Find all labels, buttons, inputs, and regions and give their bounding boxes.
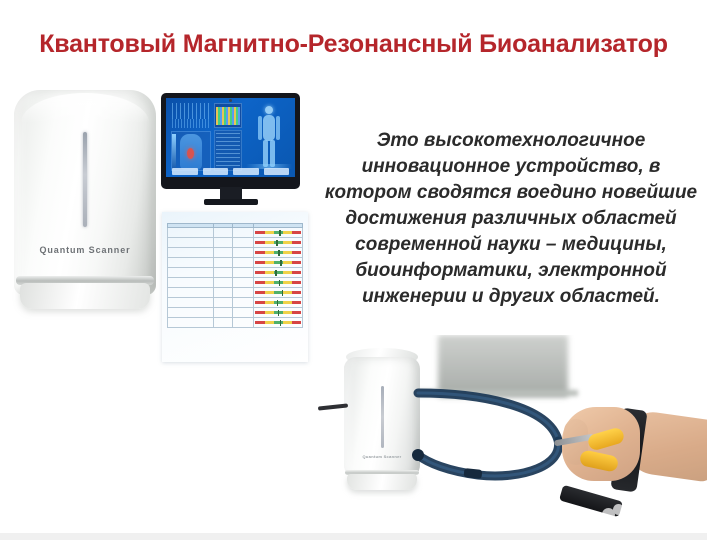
human-body-figure bbox=[254, 106, 284, 168]
gauge-marker bbox=[282, 290, 284, 296]
waveform-panel-secondary bbox=[172, 119, 210, 128]
portable-light-slit bbox=[381, 386, 384, 448]
gauge-segment bbox=[255, 271, 264, 274]
spectrum-bars bbox=[216, 107, 240, 125]
gauge-marker bbox=[279, 230, 281, 236]
gauge-segment bbox=[283, 291, 292, 294]
cell-range bbox=[213, 318, 232, 328]
scan-level-bar bbox=[172, 134, 176, 168]
gauge-segment bbox=[265, 291, 274, 294]
gauge-segment bbox=[265, 281, 274, 284]
screen-button-row bbox=[172, 168, 289, 175]
cell-range bbox=[213, 278, 232, 288]
table-row bbox=[168, 228, 303, 238]
gauge-segment bbox=[255, 281, 264, 284]
gauge-segment bbox=[255, 291, 264, 294]
bottom-strip bbox=[0, 533, 707, 540]
cell-name bbox=[168, 228, 214, 238]
cell-value bbox=[232, 248, 254, 258]
cell-range bbox=[213, 248, 232, 258]
cell-value bbox=[232, 318, 254, 328]
cell-value bbox=[232, 238, 254, 248]
cell-gauge bbox=[254, 318, 303, 328]
cell-value bbox=[232, 258, 254, 268]
monitor-stand-foot bbox=[204, 199, 258, 205]
gauge-segment bbox=[265, 261, 274, 264]
gauge-marker bbox=[276, 240, 278, 246]
gauge-segment bbox=[292, 321, 301, 324]
background-shelf bbox=[418, 390, 578, 396]
table-row bbox=[168, 318, 303, 328]
portable-base bbox=[347, 474, 417, 490]
cell-range bbox=[213, 308, 232, 318]
cell-gauge bbox=[254, 228, 303, 238]
cell-name bbox=[168, 278, 214, 288]
gauge-segment bbox=[292, 281, 301, 284]
cell-name bbox=[168, 238, 214, 248]
cell-value bbox=[232, 298, 254, 308]
gauge-segment bbox=[255, 241, 264, 244]
figure-head bbox=[265, 106, 273, 114]
cell-range bbox=[213, 288, 232, 298]
gauge-segment bbox=[292, 311, 301, 314]
gauge-segment bbox=[283, 271, 292, 274]
cell-name bbox=[168, 248, 214, 258]
status-gauge bbox=[255, 290, 301, 296]
portable-scanner-device: Quantum Scanner bbox=[344, 348, 420, 493]
gauge-marker bbox=[280, 320, 282, 326]
gauge-segment bbox=[283, 261, 292, 264]
status-gauge bbox=[255, 270, 301, 276]
cell-value bbox=[232, 228, 254, 238]
cell-name bbox=[168, 318, 214, 328]
organ-highlight-icon bbox=[187, 148, 194, 159]
table-row bbox=[168, 258, 303, 268]
wrist-strap-tail bbox=[559, 485, 623, 517]
status-gauge bbox=[255, 230, 301, 236]
gauge-segment bbox=[255, 311, 264, 314]
gauge-marker bbox=[278, 310, 280, 316]
cell-name bbox=[168, 288, 214, 298]
gauge-marker bbox=[280, 260, 282, 266]
screen-button-1[interactable] bbox=[172, 168, 198, 175]
report-table-body bbox=[168, 228, 303, 328]
cell-name bbox=[168, 308, 214, 318]
table-row bbox=[168, 298, 303, 308]
gauge-segment bbox=[283, 321, 292, 324]
status-gauge bbox=[255, 310, 301, 316]
cell-gauge bbox=[254, 288, 303, 298]
gauge-segment bbox=[265, 311, 274, 314]
gauge-segment bbox=[265, 251, 274, 254]
scanner-brand-label: Quantum Scanner bbox=[14, 245, 156, 255]
screen-button-3[interactable] bbox=[233, 168, 259, 175]
gauge-segment bbox=[292, 271, 301, 274]
gauge-segment bbox=[255, 301, 264, 304]
cell-range bbox=[213, 258, 232, 268]
cell-range bbox=[213, 228, 232, 238]
poster-canvas: Квантовый Магнитно-Резонансный Биоанализ… bbox=[0, 0, 707, 540]
status-gauge bbox=[255, 250, 301, 256]
gauge-segment bbox=[283, 231, 292, 234]
figure-arm-right bbox=[276, 116, 280, 140]
gauge-marker bbox=[277, 300, 279, 306]
gauge-segment bbox=[265, 301, 274, 304]
cell-gauge bbox=[254, 308, 303, 318]
status-gauge bbox=[255, 240, 301, 246]
cell-gauge bbox=[254, 248, 303, 258]
table-row bbox=[168, 238, 303, 248]
gauge-marker bbox=[279, 280, 281, 286]
cell-value bbox=[232, 308, 254, 318]
cell-name bbox=[168, 268, 214, 278]
scanner-base bbox=[20, 283, 150, 309]
cell-range bbox=[213, 268, 232, 278]
screen-button-4[interactable] bbox=[264, 168, 290, 175]
table-row bbox=[168, 268, 303, 278]
figure-leg-right bbox=[270, 140, 275, 167]
portable-brand-label: Quantum Scanner bbox=[344, 454, 420, 459]
gauge-segment bbox=[255, 321, 264, 324]
gauge-segment bbox=[283, 301, 292, 304]
table-row bbox=[168, 248, 303, 258]
figure-leg-left bbox=[263, 140, 268, 167]
gauge-segment bbox=[283, 241, 292, 244]
page-title: Квантовый Магнитно-Резонансный Биоанализ… bbox=[0, 30, 707, 59]
hand-holding-sensor bbox=[554, 397, 707, 517]
gauge-segment bbox=[255, 251, 264, 254]
figure-trunk bbox=[263, 115, 275, 141]
cell-value bbox=[232, 288, 254, 298]
gauge-segment bbox=[292, 251, 301, 254]
gauge-marker bbox=[275, 270, 277, 276]
main-scanner-device: Quantum Scanner bbox=[14, 90, 156, 320]
table-row bbox=[168, 278, 303, 288]
gauge-segment bbox=[265, 231, 274, 234]
report-table bbox=[167, 223, 303, 328]
gauge-segment bbox=[274, 321, 283, 324]
cell-gauge bbox=[254, 258, 303, 268]
gauge-segment bbox=[292, 241, 301, 244]
cell-range bbox=[213, 298, 232, 308]
webcam-icon bbox=[229, 99, 232, 102]
gauge-segment bbox=[292, 291, 301, 294]
gauge-segment bbox=[283, 281, 292, 284]
gauge-segment bbox=[283, 251, 292, 254]
gauge-segment bbox=[292, 301, 301, 304]
gauge-segment bbox=[283, 311, 292, 314]
gauge-segment bbox=[265, 241, 274, 244]
figure-arm-left bbox=[258, 116, 262, 140]
status-gauge bbox=[255, 320, 301, 326]
gauge-segment bbox=[274, 241, 283, 244]
waveform-panel bbox=[172, 103, 210, 119]
data-list-lines bbox=[216, 133, 240, 168]
status-gauge bbox=[255, 300, 301, 306]
cell-gauge bbox=[254, 298, 303, 308]
table-row bbox=[168, 308, 303, 318]
cell-gauge bbox=[254, 238, 303, 248]
gauge-segment bbox=[292, 231, 301, 234]
gauge-segment bbox=[265, 321, 274, 324]
gauge-segment bbox=[265, 271, 274, 274]
gauge-segment bbox=[255, 231, 264, 234]
cell-range bbox=[213, 238, 232, 248]
gauge-marker bbox=[278, 250, 280, 256]
cell-value bbox=[232, 268, 254, 278]
portable-device-photo: Quantum Scanner Avito bbox=[318, 335, 707, 540]
cell-gauge bbox=[254, 278, 303, 288]
cell-gauge bbox=[254, 268, 303, 278]
monitor-screen bbox=[166, 98, 295, 177]
description-paragraph: Это высокотехнологичное инновационное ус… bbox=[318, 128, 704, 310]
table-row bbox=[168, 288, 303, 298]
background-object bbox=[438, 335, 568, 397]
analysis-report-sheet bbox=[162, 212, 308, 362]
gauge-segment bbox=[292, 261, 301, 264]
cell-value bbox=[232, 278, 254, 288]
status-gauge bbox=[255, 260, 301, 266]
cell-name bbox=[168, 258, 214, 268]
screen-button-2[interactable] bbox=[203, 168, 229, 175]
scanner-light-slit bbox=[83, 132, 87, 227]
gauge-segment bbox=[255, 261, 264, 264]
cell-name bbox=[168, 298, 214, 308]
monitor-device bbox=[161, 93, 300, 208]
status-gauge bbox=[255, 280, 301, 286]
monitor-bezel bbox=[161, 93, 300, 189]
